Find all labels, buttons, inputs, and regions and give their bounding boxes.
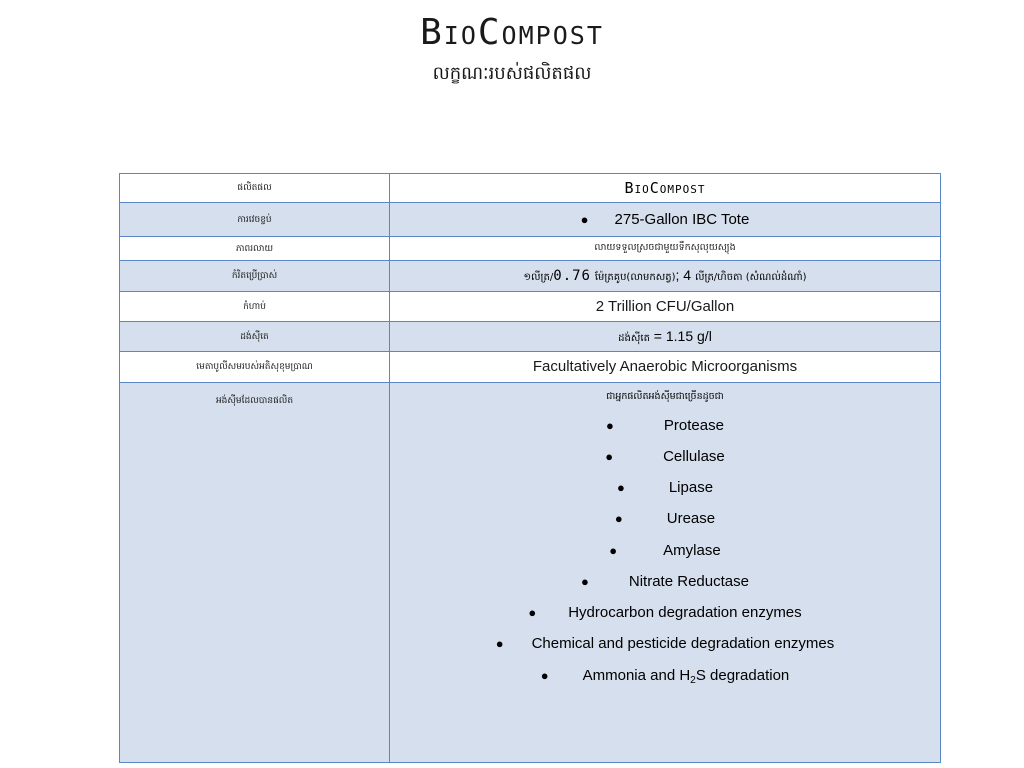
page-subtitle: លក្ខណៈរបស់ផលិតផល <box>0 64 1024 84</box>
ammonia-suffix: S degradation <box>696 667 789 684</box>
bullet-icon: ● <box>605 450 613 463</box>
row-value-concentration: 2 Trillion CFU/Gallon <box>390 292 940 322</box>
row-value-usage-rate: ១លីត្រ/0.76 ម៉ែត្រគូប(លាមកសត្វ); 4 លីត្រ… <box>390 261 940 291</box>
row-value-metabolism: Facultatively Anaerobic Microorganisms <box>390 352 940 382</box>
row-label: ផលិតផល <box>120 177 389 199</box>
row-value-cell: Facultatively Anaerobic Microorganisms <box>390 352 941 383</box>
enzyme-list: ● Protease ● Cellulase ● Lipase ● <box>390 414 940 687</box>
row-label-cell: អង់ស៊ីមដែលបានផលិត <box>120 382 390 762</box>
row-label: ការវេចខ្ចប់ <box>120 209 389 231</box>
row-value-cell: ជាអ្នកផលិតអង់ស៊ីមជាច្រើនដូចជា ● Protease… <box>390 382 941 762</box>
usage-rate-number-2: 4 <box>683 267 691 283</box>
row-value-cell: លាយទទួលស្រចជាមួយទឹកសុលុយស្យុង <box>390 237 941 261</box>
table-row-enzymes: អង់ស៊ីមដែលបានផលិត ជាអ្នកផលិតអង់ស៊ីមជាច្រ… <box>120 382 941 762</box>
row-value-cell: ដង់ស៊ីតេ = 1.15 g/l <box>390 322 941 352</box>
bullet-icon: ● <box>581 213 589 226</box>
table-row: កំហាប់ 2 Trillion CFU/Gallon <box>120 291 941 322</box>
row-label-cell: ផលិតផល <box>120 174 390 203</box>
list-item: ● Hydrocarbon degradation enzymes <box>390 601 940 624</box>
row-label-cell: ដង់ស៊ីតេ <box>120 322 390 352</box>
enzyme-name: Amylase <box>663 539 721 562</box>
row-label: មេតាបូលីសមរបស់អតិសុខុមប្រាណ <box>120 356 389 378</box>
enzyme-name: Cellulase <box>663 445 725 468</box>
row-label-cell: ភាពរលាយ <box>120 237 390 261</box>
list-item: ● Ammonia and H2S degradation <box>390 664 940 687</box>
enzyme-heading: ជាអ្នកផលិតអង់ស៊ីមជាច្រើនដូចជា <box>390 391 940 404</box>
enzyme-name: Chemical and pesticide degradation enzym… <box>532 632 835 655</box>
density-km-label: ដង់ស៊ីតេ <box>618 333 650 344</box>
bullet-icon: ● <box>581 575 589 588</box>
row-label: ដង់ស៊ីតេ <box>120 326 389 348</box>
enzyme-block: ជាអ្នកផលិតអង់ស៊ីមជាច្រើនដូចជា ● Protease… <box>390 383 940 762</box>
row-label: កំហាប់ <box>120 296 389 318</box>
row-value-density: ដង់ស៊ីតេ = 1.15 g/l <box>390 322 940 351</box>
table-row: កំរិតប្រើប្រាស់ ១លីត្រ/0.76 ម៉ែត្រគូប(លា… <box>120 261 941 292</box>
table-row: ភាពរលាយ លាយទទួលស្រចជាមួយទឹកសុលុយស្យុង <box>120 237 941 261</box>
usage-rate-km-unit-1: ម៉ែត្រគូប(លាមកសត្វ) <box>595 272 676 283</box>
usage-rate-km-unit-2: លីត្រ/ហិចតា (សំណល់ដំណាំ) <box>695 272 807 283</box>
enzyme-name: Protease <box>664 414 724 437</box>
row-value-cell: BioCompost <box>390 174 941 203</box>
row-label: អង់ស៊ីមដែលបានផលិត <box>120 383 389 412</box>
table-row: ផលិតផល BioCompost <box>120 174 941 203</box>
list-item: ● Protease <box>390 414 940 437</box>
table-row: ដង់ស៊ីតេ ដង់ស៊ីតេ = 1.15 g/l <box>120 322 941 352</box>
bullet-icon: ● <box>541 669 549 682</box>
row-label-cell: កំរិតប្រើប្រាស់ <box>120 261 390 292</box>
row-label-cell: កំហាប់ <box>120 291 390 322</box>
enzyme-name: Lipase <box>669 476 713 499</box>
ammonia-subscript: 2 <box>690 675 696 686</box>
row-value-packaging: 275-Gallon IBC Tote <box>615 208 750 231</box>
list-item: ● Cellulase <box>390 445 940 468</box>
enzyme-name: Nitrate Reductase <box>629 570 749 593</box>
enzyme-name: Urease <box>667 507 715 530</box>
ammonia-prefix: Ammonia and H <box>583 667 691 684</box>
table-row: ការវេចខ្ចប់ ● 275-Gallon IBC Tote <box>120 203 941 237</box>
enzyme-block-spacer <box>390 695 940 750</box>
usage-rate-number-1: 0.76 <box>553 268 591 284</box>
list-item: ● Lipase <box>390 476 940 499</box>
row-value-cell: ● 275-Gallon IBC Tote <box>390 203 941 237</box>
list-item: ● Amylase <box>390 539 940 562</box>
row-value-brand: BioCompost <box>390 174 940 202</box>
title-block: BioCompost លក្ខណៈរបស់ផលិតផល <box>0 14 1024 84</box>
table-row: មេតាបូលីសមរបស់អតិសុខុមប្រាណ Facultativel… <box>120 352 941 383</box>
list-item: ● Urease <box>390 507 940 530</box>
row-label-cell: មេតាបូលីសមរបស់អតិសុខុមប្រាណ <box>120 352 390 383</box>
bullet-icon: ● <box>528 606 536 619</box>
density-equation: = 1.15 g/l <box>650 328 712 344</box>
enzyme-name-ammonia: Ammonia and H2S degradation <box>583 664 790 687</box>
list-item: ● Chemical and pesticide degradation enz… <box>390 632 940 655</box>
row-label: កំរិតប្រើប្រាស់ <box>120 265 389 287</box>
bullet-icon: ● <box>609 544 617 557</box>
product-spec-table: ផលិតផល BioCompost ការវេចខ្ចប់ ● 275-Gall… <box>119 173 941 763</box>
usage-rate-km-prefix: ១លីត្រ/ <box>523 272 553 283</box>
bullet-icon: ● <box>615 512 623 525</box>
row-label-cell: ការវេចខ្ចប់ <box>120 203 390 237</box>
bullet-icon: ● <box>606 419 614 432</box>
list-item: ● Nitrate Reductase <box>390 570 940 593</box>
page-title: BioCompost <box>0 14 1024 52</box>
row-value-cell: ១លីត្រ/0.76 ម៉ែត្រគូប(លាមកសត្វ); 4 លីត្រ… <box>390 261 941 292</box>
bullet-icon: ● <box>496 637 504 650</box>
enzyme-name: Hydrocarbon degradation enzymes <box>568 601 801 624</box>
bullet-icon: ● <box>617 481 625 494</box>
row-value-solubility: លាយទទួលស្រចជាមួយទឹកសុលុយស្យុង <box>390 237 940 260</box>
row-label: ភាពរលាយ <box>120 238 389 260</box>
row-value-cell: 2 Trillion CFU/Gallon <box>390 291 941 322</box>
